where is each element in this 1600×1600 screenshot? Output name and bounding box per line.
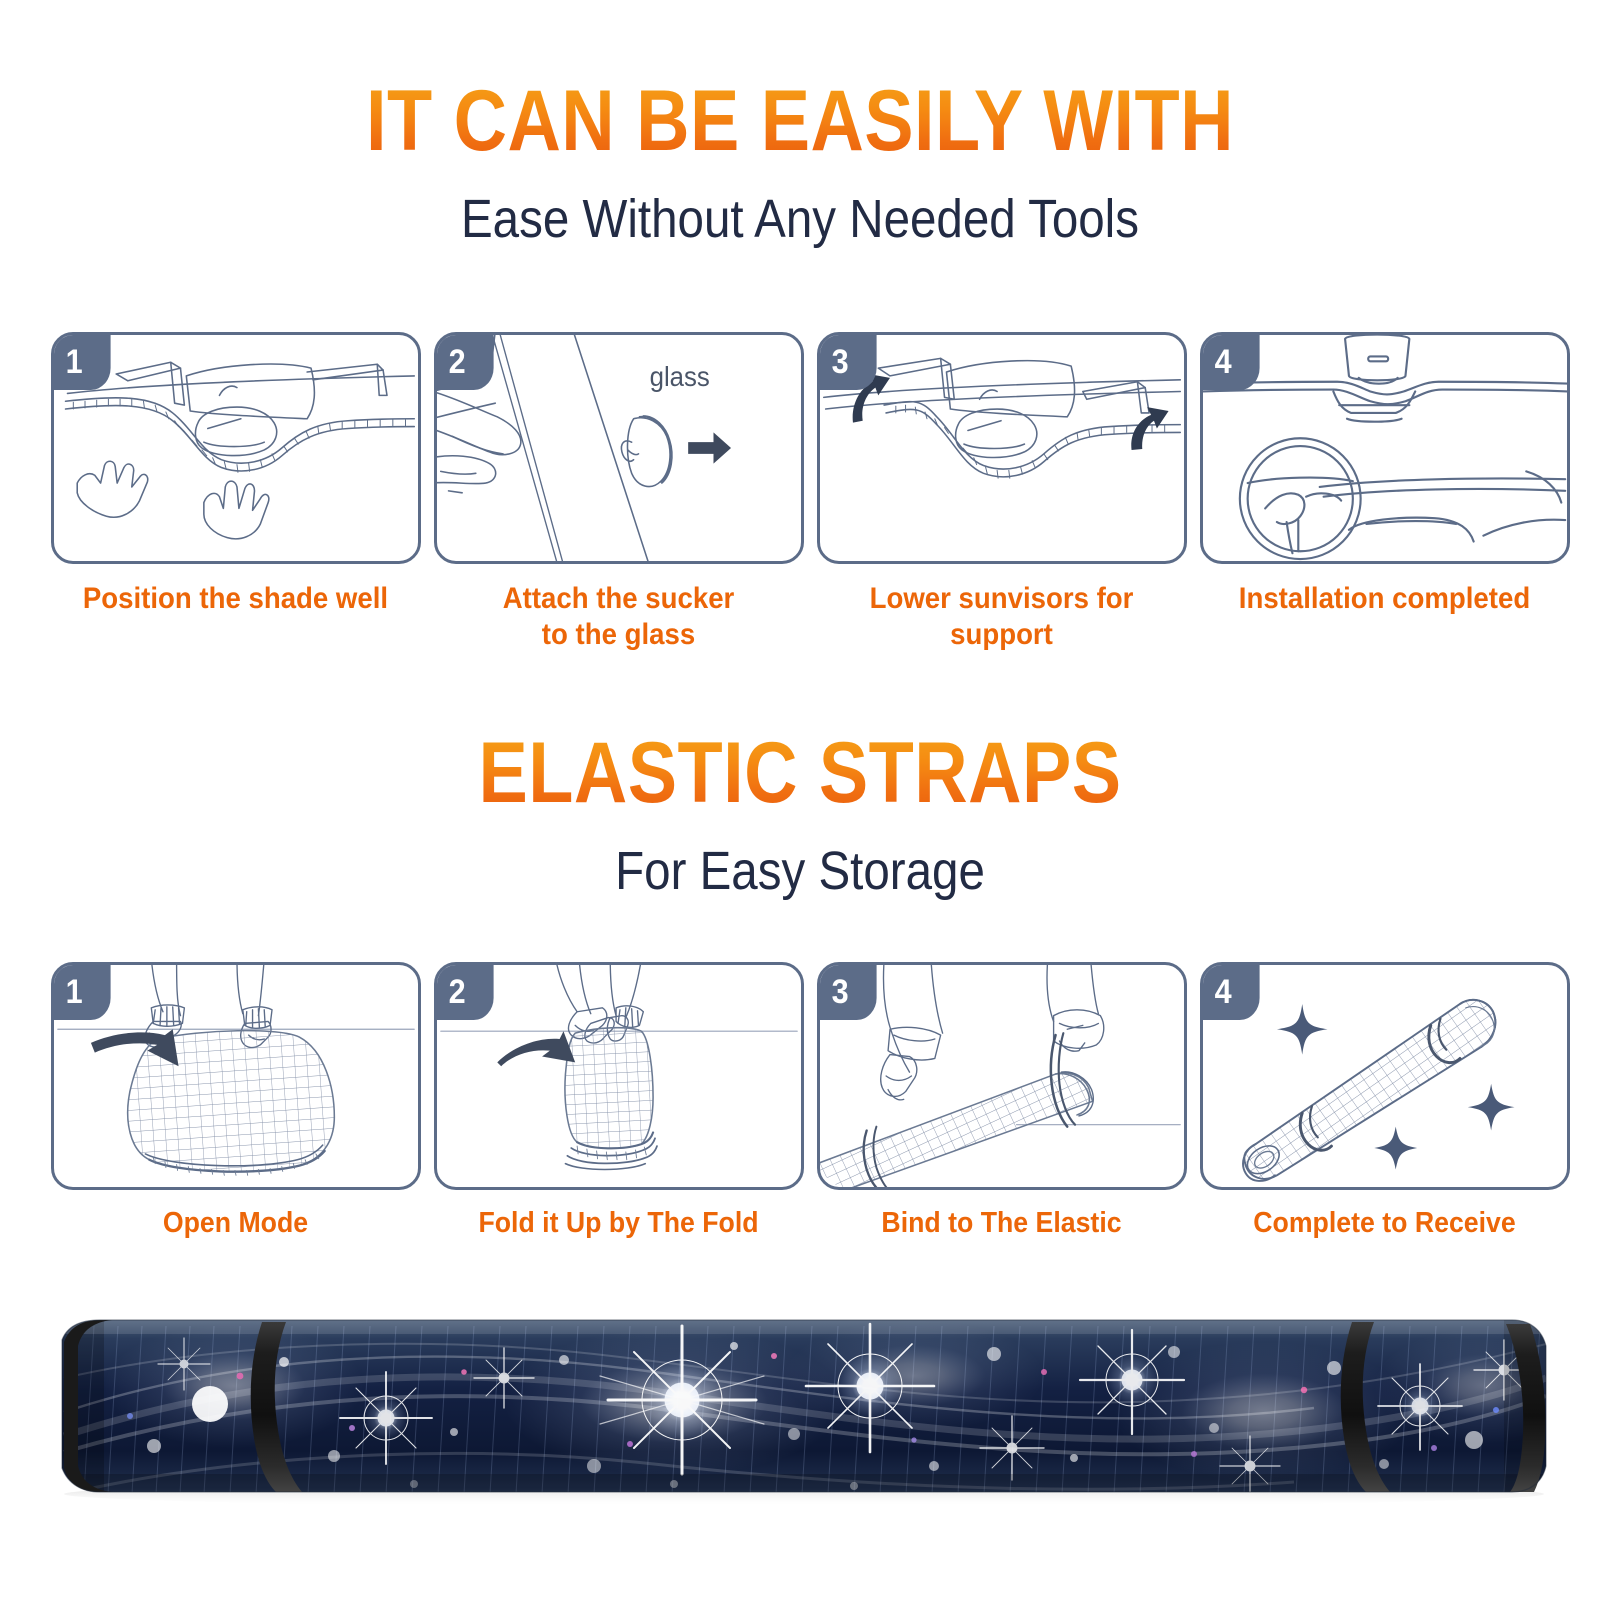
step-card-3-frame: 3: [817, 332, 1187, 564]
step-caption-3-line2: support: [825, 617, 1177, 653]
step-caption-1: Position the shade well: [59, 581, 411, 617]
storage-card-3[interactable]: 3: [810, 962, 1193, 1241]
installation-steps-row: 1: [0, 332, 1600, 653]
storage-card-3-frame: 3: [817, 962, 1187, 1190]
section-2-subtitle: For Easy Storage: [96, 844, 1504, 898]
storage-caption-2: Fold it Up by The Fold: [442, 1206, 794, 1241]
step-caption-2-line1: Attach the sucker: [442, 581, 794, 617]
step-caption-3-line1: Lower sunvisors for: [825, 581, 1177, 617]
storage-card-2-frame: 2: [434, 962, 804, 1190]
step-card-1[interactable]: 1: [44, 332, 427, 653]
storage-caption-4: Complete to Receive: [1208, 1206, 1560, 1241]
step-card-4-frame: 4: [1200, 332, 1570, 564]
storage-caption-3: Bind to The Elastic: [825, 1206, 1177, 1241]
step-caption-3: Lower sunvisors for support: [825, 581, 1177, 653]
infographic-page: IT CAN BE EASILY WITH Ease Without Any N…: [0, 0, 1600, 1600]
section-2-title: ELASTIC STRAPS: [112, 730, 1488, 816]
storage-caption-1: Open Mode: [59, 1206, 411, 1241]
step-number-badge: 2: [436, 334, 494, 390]
step-card-4[interactable]: 4: [1193, 332, 1576, 653]
step-number-badge: 1: [53, 964, 111, 1020]
step-number-badge: 3: [819, 964, 877, 1020]
storage-card-2[interactable]: 2: [427, 962, 810, 1241]
section-1-title: IT CAN BE EASILY WITH: [112, 78, 1488, 164]
storage-card-1[interactable]: 1: [44, 962, 427, 1241]
storage-steps-row: 1: [0, 962, 1600, 1241]
step-caption-2-line2: to the glass: [442, 617, 794, 653]
storage-card-1-frame: 1: [51, 962, 421, 1190]
step-card-2-frame: 2: [434, 332, 804, 564]
step-card-2[interactable]: 2: [427, 332, 810, 653]
storage-card-4-frame: 4: [1200, 962, 1570, 1190]
step-card-1-frame: 1: [51, 332, 421, 564]
step-number-badge: 4: [1202, 334, 1260, 390]
step-number-badge: 3: [819, 334, 877, 390]
step-caption-4: Installation completed: [1208, 581, 1560, 617]
step-card-3[interactable]: 3: [810, 332, 1193, 653]
section-1-heading: IT CAN BE EASILY WITH Ease Without Any N…: [0, 78, 1600, 246]
section-2-heading: ELASTIC STRAPS For Easy Storage: [0, 730, 1600, 898]
product-photo-rolled-sunshade: [34, 1316, 1568, 1504]
step-number-badge: 1: [53, 334, 111, 390]
section-1-subtitle: Ease Without Any Needed Tools: [96, 192, 1504, 246]
step-number-badge: 4: [1202, 964, 1260, 1020]
step-caption-2: Attach the sucker to the glass: [442, 581, 794, 653]
storage-card-4[interactable]: 4: [1193, 962, 1576, 1241]
step-number-badge: 2: [436, 964, 494, 1020]
glass-label: glass: [649, 361, 709, 393]
